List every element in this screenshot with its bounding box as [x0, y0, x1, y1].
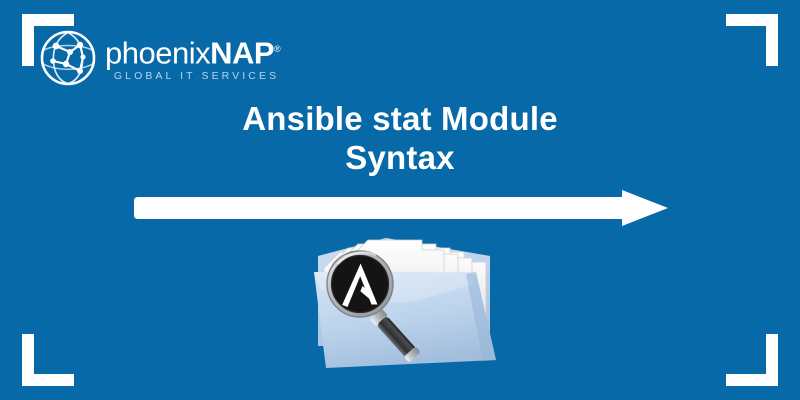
- folder-with-magnifier-icon: [300, 228, 520, 383]
- banner: phoenixNAP® GLOBAL IT SERVICES Ansible s…: [0, 0, 800, 400]
- globe-network-icon: [40, 30, 96, 86]
- magnifier-lens: [327, 251, 393, 317]
- logo-wordmark-bold: NAP: [210, 35, 274, 70]
- logo-text-block: phoenixNAP® GLOBAL IT SERVICES: [105, 33, 280, 83]
- right-arrow-icon: [130, 190, 670, 226]
- corner-bracket-bottom-left: [22, 334, 74, 386]
- logo-wordmark: phoenixNAP®: [105, 33, 280, 69]
- corner-bracket-top-right: [726, 14, 778, 66]
- logo-wordmark-light: phoenix: [105, 35, 210, 70]
- page-title: Ansible stat Module Syntax: [0, 99, 800, 177]
- page-title-line-2: Syntax: [0, 138, 800, 177]
- corner-bracket-bottom-right: [726, 334, 778, 386]
- page-title-line-1: Ansible stat Module: [0, 99, 800, 138]
- logo-tagline: GLOBAL IT SERVICES: [105, 70, 280, 83]
- phoenixnap-logo: phoenixNAP® GLOBAL IT SERVICES: [40, 30, 280, 86]
- registered-trademark-icon: ®: [274, 44, 280, 54]
